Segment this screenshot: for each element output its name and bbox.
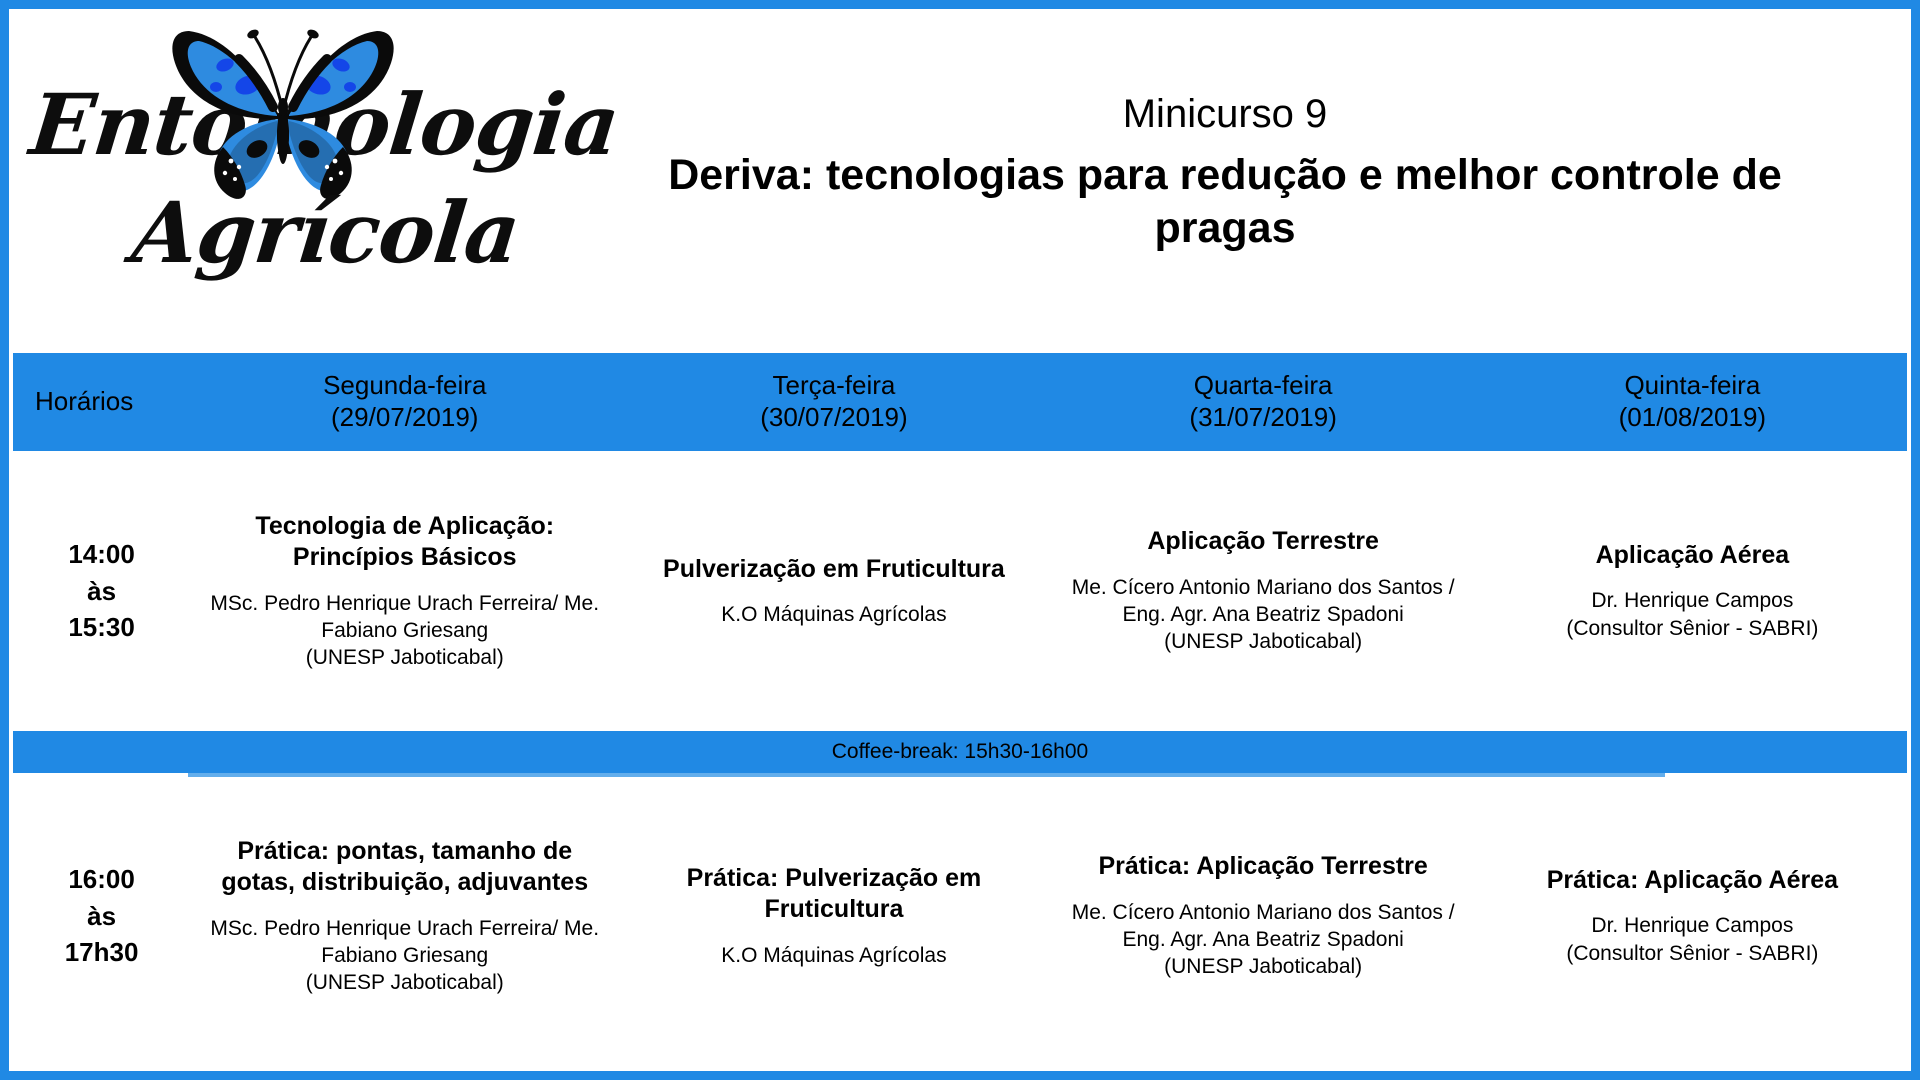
session-title: Prática: Aplicação Terrestre xyxy=(1063,851,1464,883)
column-header-monday-label: Segunda-feira xyxy=(196,369,613,402)
entomologia-agricola-logo: Entomologia xyxy=(13,13,573,353)
bottom-spacer xyxy=(13,1059,1907,1071)
session-title: Prática: pontas, tamanho de gotas, distr… xyxy=(204,836,605,899)
column-header-horarios: Horários xyxy=(13,353,190,451)
time-slot-2: 16:00 às 17h30 xyxy=(13,773,190,1059)
column-header-wednesday-date: (31/07/2019) xyxy=(1055,401,1472,434)
session-title: Prática: Pulverização em Fruticultura xyxy=(633,863,1034,926)
session-mon-1: Tecnologia de Aplicação: Princípios Bási… xyxy=(190,451,619,731)
poster-header: Entomologia xyxy=(13,13,1907,353)
poster-inner-frame: Entomologia xyxy=(9,9,1911,1071)
coffee-break-underline xyxy=(188,773,1665,777)
session-title: Prática: Aplicação Aérea xyxy=(1492,865,1893,897)
column-header-tuesday: Terça-feira (30/07/2019) xyxy=(619,353,1048,451)
column-header-thursday-label: Quinta-feira xyxy=(1484,369,1901,402)
session-speaker: K.O Máquinas Agrícolas xyxy=(633,942,1034,969)
session-speaker: Dr. Henrique Campos (Consultor Sênior - … xyxy=(1492,912,1893,967)
session-title: Aplicação Aérea xyxy=(1492,540,1893,572)
schedule-header-row: Horários Segunda-feira (29/07/2019) Terç… xyxy=(13,353,1907,451)
session-speaker: K.O Máquinas Agrícolas xyxy=(633,601,1034,628)
column-header-wednesday: Quarta-feira (31/07/2019) xyxy=(1049,353,1478,451)
session-speaker: MSc. Pedro Henrique Urach Ferreira/ Me. … xyxy=(204,915,605,997)
course-number: Minicurso 9 xyxy=(573,91,1877,137)
title-block: Minicurso 9 Deriva: tecnologias para red… xyxy=(573,13,1907,256)
time-slot-1: 14:00 às 15:30 xyxy=(13,451,190,731)
coffee-break-label: Coffee-break: 15h30-16h00 xyxy=(832,740,1088,764)
column-header-horarios-label: Horários xyxy=(35,385,184,418)
schedule-table-second: 16:00 às 17h30 Prática: pontas, tamanho … xyxy=(13,773,1907,1059)
session-speaker: Me. Cícero Antonio Mariano dos Santos / … xyxy=(1063,574,1464,656)
column-header-tuesday-label: Terça-feira xyxy=(625,369,1042,402)
schedule-table: Horários Segunda-feira (29/07/2019) Terç… xyxy=(13,353,1907,731)
table-row: 16:00 às 17h30 Prática: pontas, tamanho … xyxy=(13,773,1907,1059)
session-wed-2: Prática: Aplicação Terrestre Me. Cícero … xyxy=(1049,773,1478,1059)
session-title: Tecnologia de Aplicação: Princípios Bási… xyxy=(204,511,605,574)
logo-word-bottom: Agrícola xyxy=(128,183,524,282)
session-tue-1: Pulverização em Fruticultura K.O Máquina… xyxy=(619,451,1048,731)
session-tue-2: Prática: Pulverização em Fruticultura K.… xyxy=(619,773,1048,1059)
session-mon-2: Prática: pontas, tamanho de gotas, distr… xyxy=(190,773,619,1059)
session-thu-1: Aplicação Aérea Dr. Henrique Campos (Con… xyxy=(1478,451,1907,731)
session-speaker: MSc. Pedro Henrique Urach Ferreira/ Me. … xyxy=(204,590,605,672)
session-speaker: Me. Cícero Antonio Mariano dos Santos / … xyxy=(1063,899,1464,981)
session-title: Aplicação Terrestre xyxy=(1063,526,1464,558)
session-thu-2: Prática: Aplicação Aérea Dr. Henrique Ca… xyxy=(1478,773,1907,1059)
coffee-break-band: Coffee-break: 15h30-16h00 xyxy=(13,731,1907,773)
column-header-monday: Segunda-feira (29/07/2019) xyxy=(190,353,619,451)
column-header-thursday: Quinta-feira (01/08/2019) xyxy=(1478,353,1907,451)
session-speaker: Dr. Henrique Campos (Consultor Sênior - … xyxy=(1492,587,1893,642)
column-header-wednesday-label: Quarta-feira xyxy=(1055,369,1472,402)
session-wed-1: Aplicação Terrestre Me. Cícero Antonio M… xyxy=(1049,451,1478,731)
column-header-monday-date: (29/07/2019) xyxy=(196,401,613,434)
column-header-tuesday-date: (30/07/2019) xyxy=(625,401,1042,434)
course-title: Deriva: tecnologias para redução e melho… xyxy=(573,149,1877,256)
poster-root: Entomologia xyxy=(0,0,1920,1080)
session-title: Pulverização em Fruticultura xyxy=(633,554,1034,586)
table-row: 14:00 às 15:30 Tecnologia de Aplicação: … xyxy=(13,451,1907,731)
column-header-thursday-date: (01/08/2019) xyxy=(1484,401,1901,434)
